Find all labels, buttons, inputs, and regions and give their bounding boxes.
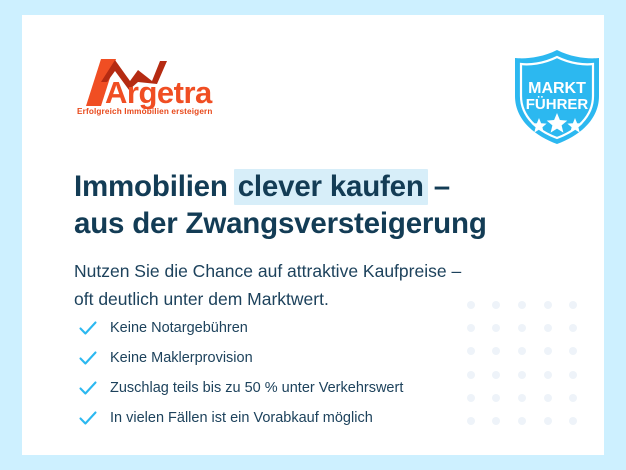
benefit-label: Keine Notargebühren [110, 321, 248, 336]
check-icon [77, 317, 99, 339]
headline-line-2: aus der Zwangsversteigerung [74, 205, 544, 242]
market-leader-badge: MARKT FÜHRER [511, 48, 603, 146]
check-icon [77, 407, 99, 429]
argetra-a-roof-icon: Argetra [74, 57, 234, 109]
dot [569, 417, 577, 425]
benefit-label: Zuschlag teils bis zu 50 % unter Verkehr… [110, 381, 403, 396]
list-item: Keine Notargebühren [77, 313, 537, 343]
check-icon [77, 377, 99, 399]
list-item: In vielen Fällen ist ein Vorabkauf mögli… [77, 403, 537, 433]
dot [569, 324, 577, 332]
benefits-list: Keine Notargebühren Keine Maklerprovisio… [77, 313, 537, 433]
check-icon [77, 347, 99, 369]
headline-suffix: – [426, 170, 450, 203]
dot [544, 417, 552, 425]
headline-line-1: Immobilien clever kaufen – [74, 168, 544, 205]
promo-card: Argetra Erfolgreich Immobilien ersteiger… [22, 15, 604, 455]
dot [569, 371, 577, 379]
list-item: Keine Maklerprovision [77, 343, 537, 373]
headline-prefix: Immobilien [74, 170, 236, 203]
subtitle-line-1: Nutzen Sie die Chance auf attraktive Kau… [74, 257, 574, 285]
argetra-logo[interactable]: Argetra Erfolgreich Immobilien ersteiger… [74, 57, 234, 123]
page-subtitle: Nutzen Sie die Chance auf attraktive Kau… [74, 257, 574, 313]
benefit-label: Keine Maklerprovision [110, 351, 253, 366]
outer-border-frame: Argetra Erfolgreich Immobilien ersteiger… [0, 0, 626, 470]
svg-text:Argetra: Argetra [105, 75, 213, 109]
dot [544, 347, 552, 355]
badge-line2: FÜHRER [526, 96, 589, 113]
page-title: Immobilien clever kaufen – aus der Zwang… [74, 168, 544, 242]
dot [544, 324, 552, 332]
badge-line1: MARKT [528, 80, 586, 97]
dot [544, 371, 552, 379]
shield-icon: MARKT FÜHRER [511, 48, 603, 146]
logo-tagline: Erfolgreich Immobilien ersteigern [77, 107, 213, 116]
dot [544, 394, 552, 402]
list-item: Zuschlag teils bis zu 50 % unter Verkehr… [77, 373, 537, 403]
subtitle-line-2: oft deutlich unter dem Marktwert. [74, 285, 574, 313]
benefit-label: In vielen Fällen ist ein Vorabkauf mögli… [110, 411, 373, 426]
headline-highlight: clever kaufen [234, 169, 428, 205]
argetra-logo-mark: Argetra [74, 57, 234, 109]
dot [569, 347, 577, 355]
dot [569, 394, 577, 402]
